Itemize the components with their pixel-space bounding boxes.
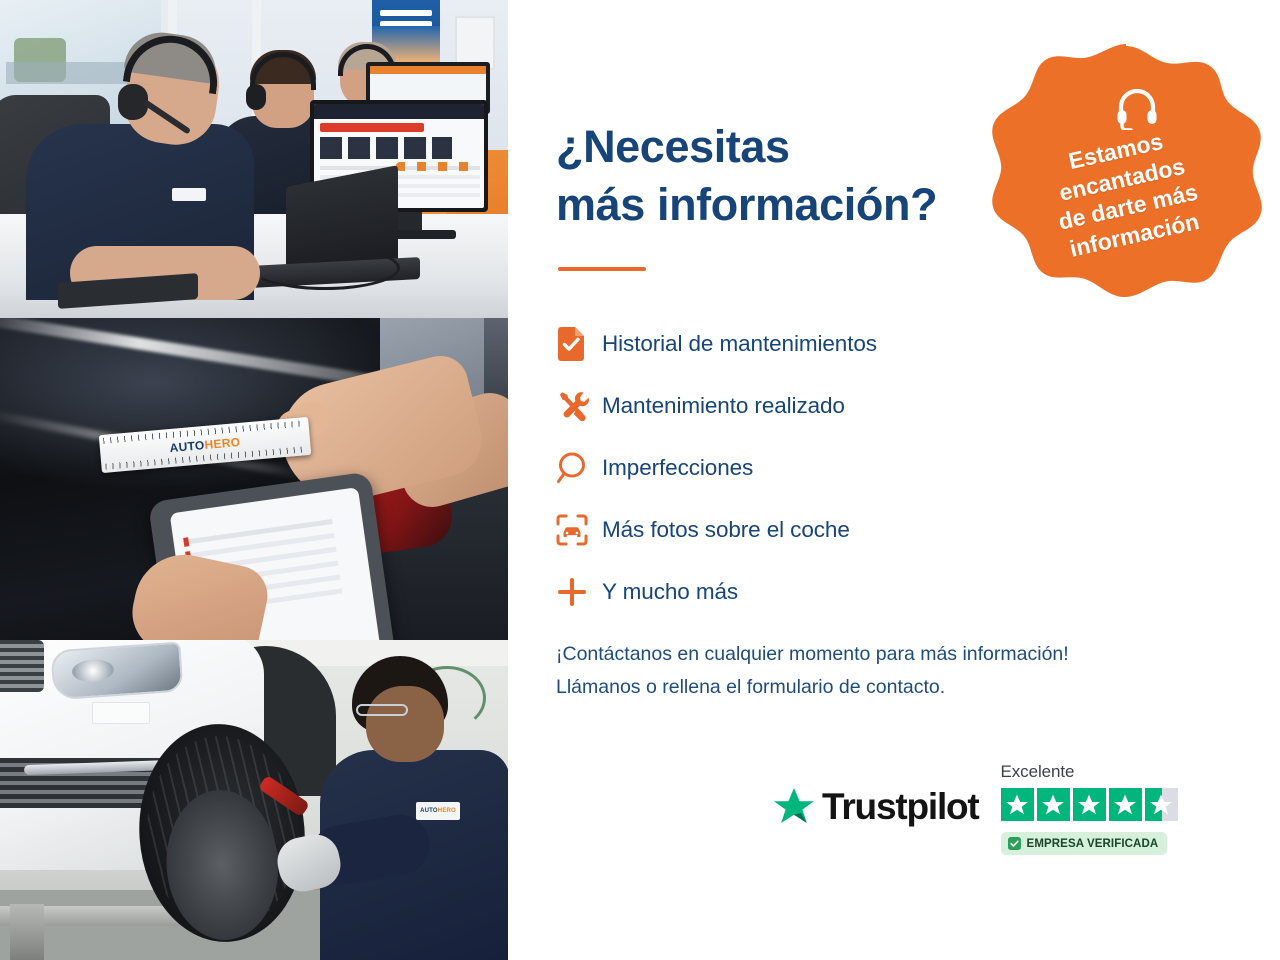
autohero-badge: AUTOHERO (416, 802, 460, 820)
star-filled (1109, 788, 1142, 821)
feature-item-mas: Y mucho más (556, 561, 1056, 623)
title-divider (558, 267, 646, 271)
headset-icon (1115, 86, 1159, 130)
feature-list: Historial de mantenimientos Mantenimient… (556, 313, 1056, 623)
car-grille (0, 640, 44, 692)
feature-label: Más fotos sobre el coche (602, 517, 850, 543)
promo-banner: AUTOHERO (0, 0, 1280, 960)
feature-label: Y mucho más (602, 579, 738, 605)
car-headlight (50, 642, 183, 701)
star-partial (1145, 788, 1178, 821)
trustpilot-rating: Trustpilot Excelente (773, 762, 1178, 855)
tools-icon (556, 389, 602, 423)
magnifier-icon (556, 452, 602, 484)
plus-icon (556, 576, 602, 608)
car-scan-icon (556, 514, 602, 546)
mechanic: AUTOHERO (312, 650, 508, 960)
star-filled (1037, 788, 1070, 821)
verified-check-icon (1008, 837, 1021, 850)
cable (250, 246, 400, 290)
verified-label: EMPRESA VERIFICADA (1027, 838, 1159, 850)
feature-item-historial: Historial de mantenimientos (556, 313, 1056, 375)
call-center-agents-photo (0, 0, 508, 318)
car-inspection-ruler-photo: AUTOHERO (0, 318, 508, 640)
feature-item-fotos: Más fotos sobre el coche (556, 499, 1056, 561)
photo-strip: AUTOHERO (0, 0, 508, 960)
rating-label: Excelente (1001, 762, 1178, 782)
car-lift-leg (10, 904, 44, 960)
contact-text: ¡Contáctanos en cualquier momento para m… (556, 638, 1069, 704)
feature-label: Mantenimiento realizado (602, 393, 845, 419)
star-filled (1001, 788, 1034, 821)
star-filled (1073, 788, 1106, 821)
feature-item-imperfecciones: Imperfecciones (556, 437, 1056, 499)
feature-item-mantenimiento: Mantenimiento realizado (556, 375, 1056, 437)
support-badge: Estamos encantados de darte más informac… (983, 40, 1269, 326)
trustpilot-score-block: Excelente (1001, 762, 1178, 855)
agent-foreground (22, 38, 246, 278)
content-panel: ¿Necesitas más información? Estamos enca… (508, 0, 1280, 960)
trustpilot-star-icon (773, 786, 815, 828)
feature-label: Imperfecciones (602, 455, 753, 481)
verified-company-badge: EMPRESA VERIFICADA (1001, 832, 1168, 855)
autohero-logo: AUTOHERO (169, 435, 241, 455)
license-plate-area (92, 702, 150, 724)
trustpilot-logo: Trustpilot (773, 786, 979, 828)
feature-label: Historial de mantenimientos (602, 331, 877, 357)
star-rating (1001, 788, 1178, 821)
trustpilot-wordmark: Trustpilot (822, 786, 979, 828)
workshop-tire-photo: AUTOHERO (0, 640, 508, 960)
document-check-icon (556, 327, 602, 361)
page-title: ¿Necesitas más información? (556, 118, 937, 233)
